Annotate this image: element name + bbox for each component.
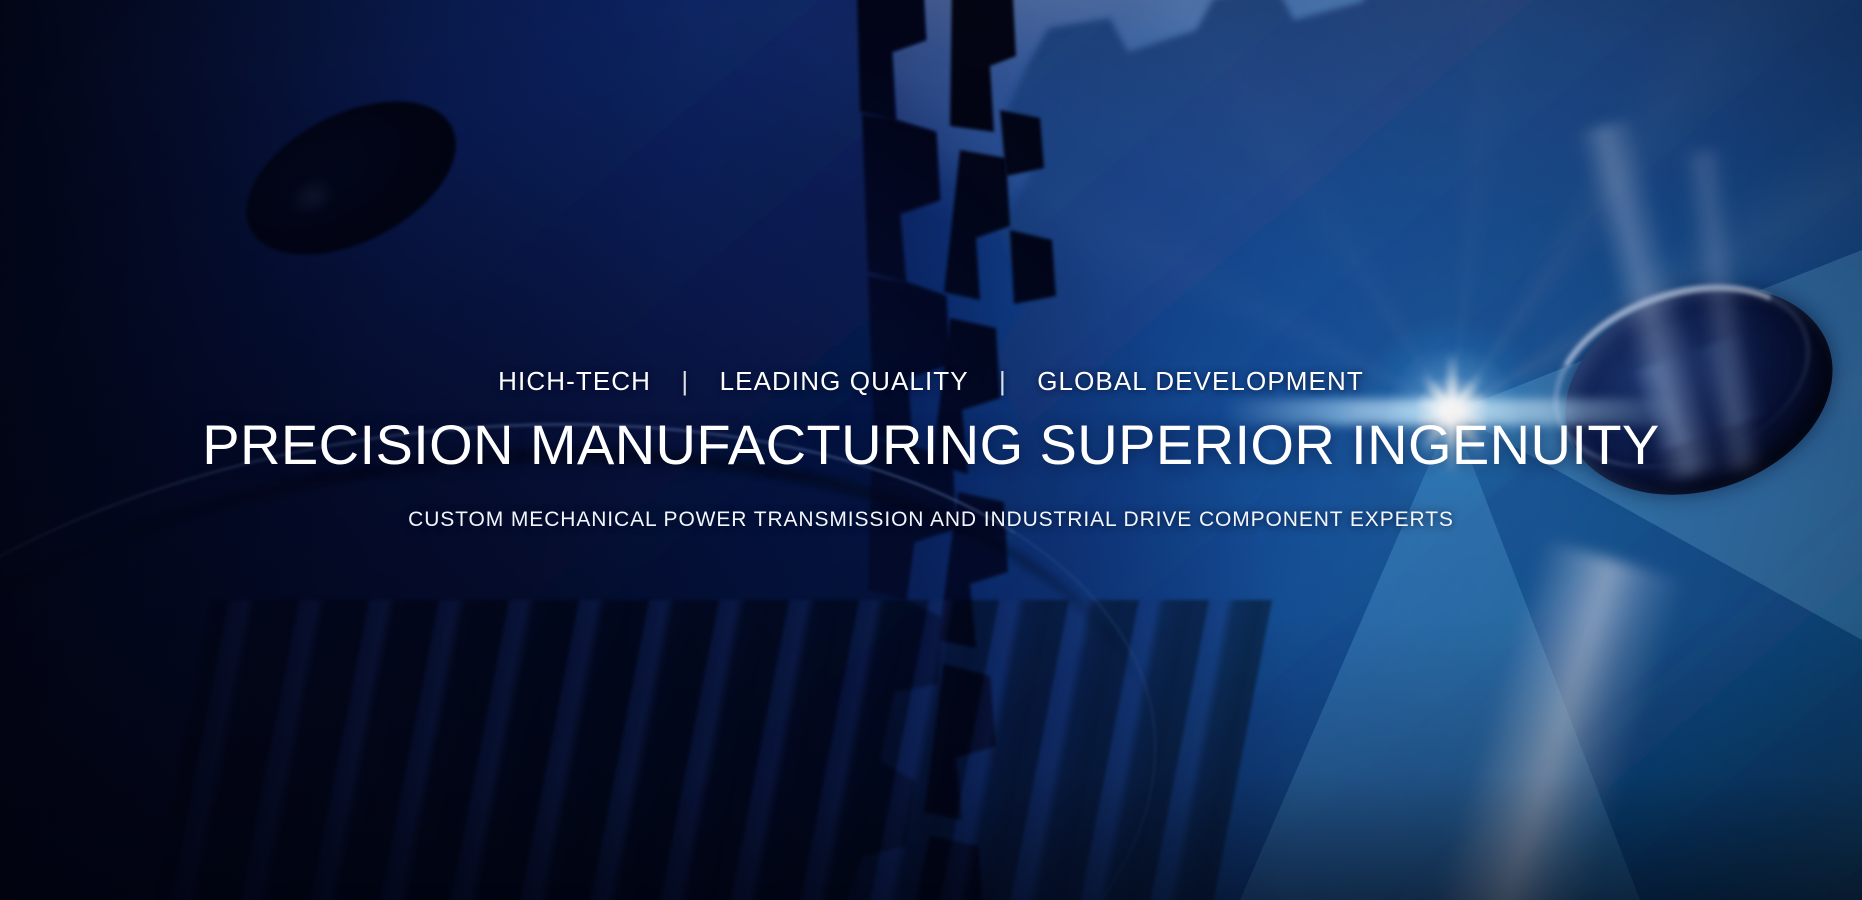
tagline-separator: | — [999, 366, 1007, 397]
hero-tagline: HICH-TECH | LEADING QUALITY | GLOBAL DEV… — [0, 366, 1862, 397]
tagline-segment-2: LEADING QUALITY — [720, 366, 969, 397]
tagline-separator: | — [681, 366, 689, 397]
tagline-segment-3: GLOBAL DEVELOPMENT — [1037, 366, 1364, 397]
hero-banner: HICH-TECH | LEADING QUALITY | GLOBAL DEV… — [0, 0, 1862, 900]
hero-subtitle: CUSTOM MECHANICAL POWER TRANSMISSION AND… — [0, 508, 1862, 532]
tagline-segment-1: HICH-TECH — [498, 366, 651, 397]
hero-headline: PRECISION MANUFACTURING SUPERIOR INGENUI… — [0, 416, 1862, 475]
